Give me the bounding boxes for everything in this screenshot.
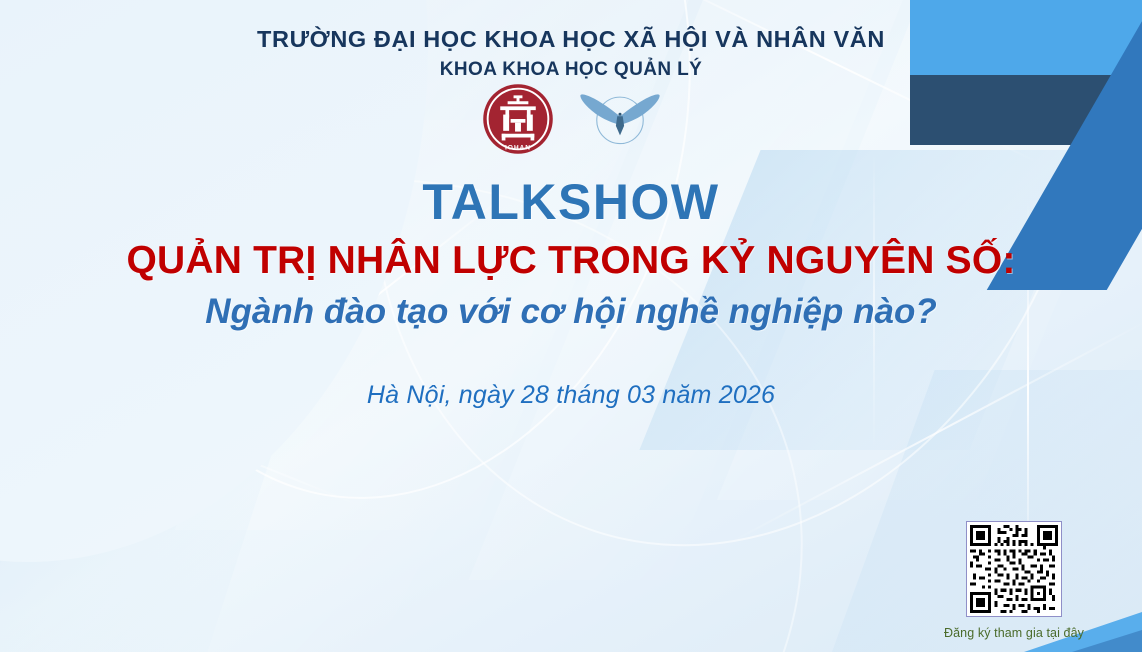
sub-headline: Ngành đào tạo với cơ hội nghề nghiệp nào… — [0, 292, 1142, 332]
title-block: TALKSHOW QUẢN TRỊ NHÂN LỰC TRONG KỶ NGUY… — [0, 176, 1142, 332]
slide-content: TRƯỜNG ĐẠI HỌC KHOA HỌC XÃ HỘI VÀ NHÂN V… — [0, 0, 1142, 652]
registration-caption: Đăng ký tham gia tại đây — [924, 626, 1104, 640]
registration-qr-block[interactable]: Đăng ký tham gia tại đây — [924, 521, 1104, 640]
logo-row: IOHAN — [0, 82, 1142, 156]
ussh-seal-logo: IOHAN — [481, 82, 555, 156]
svg-text:IOHAN: IOHAN — [505, 144, 531, 151]
main-headline: QUẢN TRỊ NHÂN LỰC TRONG KỶ NGUYÊN SỐ: — [0, 239, 1142, 283]
presentation-slide: TRƯỜNG ĐẠI HỌC KHOA HỌC XÃ HỘI VÀ NHÂN V… — [0, 0, 1142, 652]
organization-header: TRƯỜNG ĐẠI HỌC KHOA HỌC XÃ HỘI VÀ NHÂN V… — [0, 26, 1142, 81]
university-name: TRƯỜNG ĐẠI HỌC KHOA HỌC XÃ HỘI VÀ NHÂN V… — [0, 26, 1142, 53]
event-date-line: Hà Nội, ngày 28 tháng 03 năm 2026 — [0, 381, 1142, 410]
talkshow-kicker: TALKSHOW — [0, 176, 1142, 229]
faculty-name: KHOA KHOA HỌC QUẢN LÝ — [0, 59, 1142, 81]
bird-emblem-logo — [579, 86, 661, 152]
qr-code-icon[interactable] — [966, 521, 1062, 617]
